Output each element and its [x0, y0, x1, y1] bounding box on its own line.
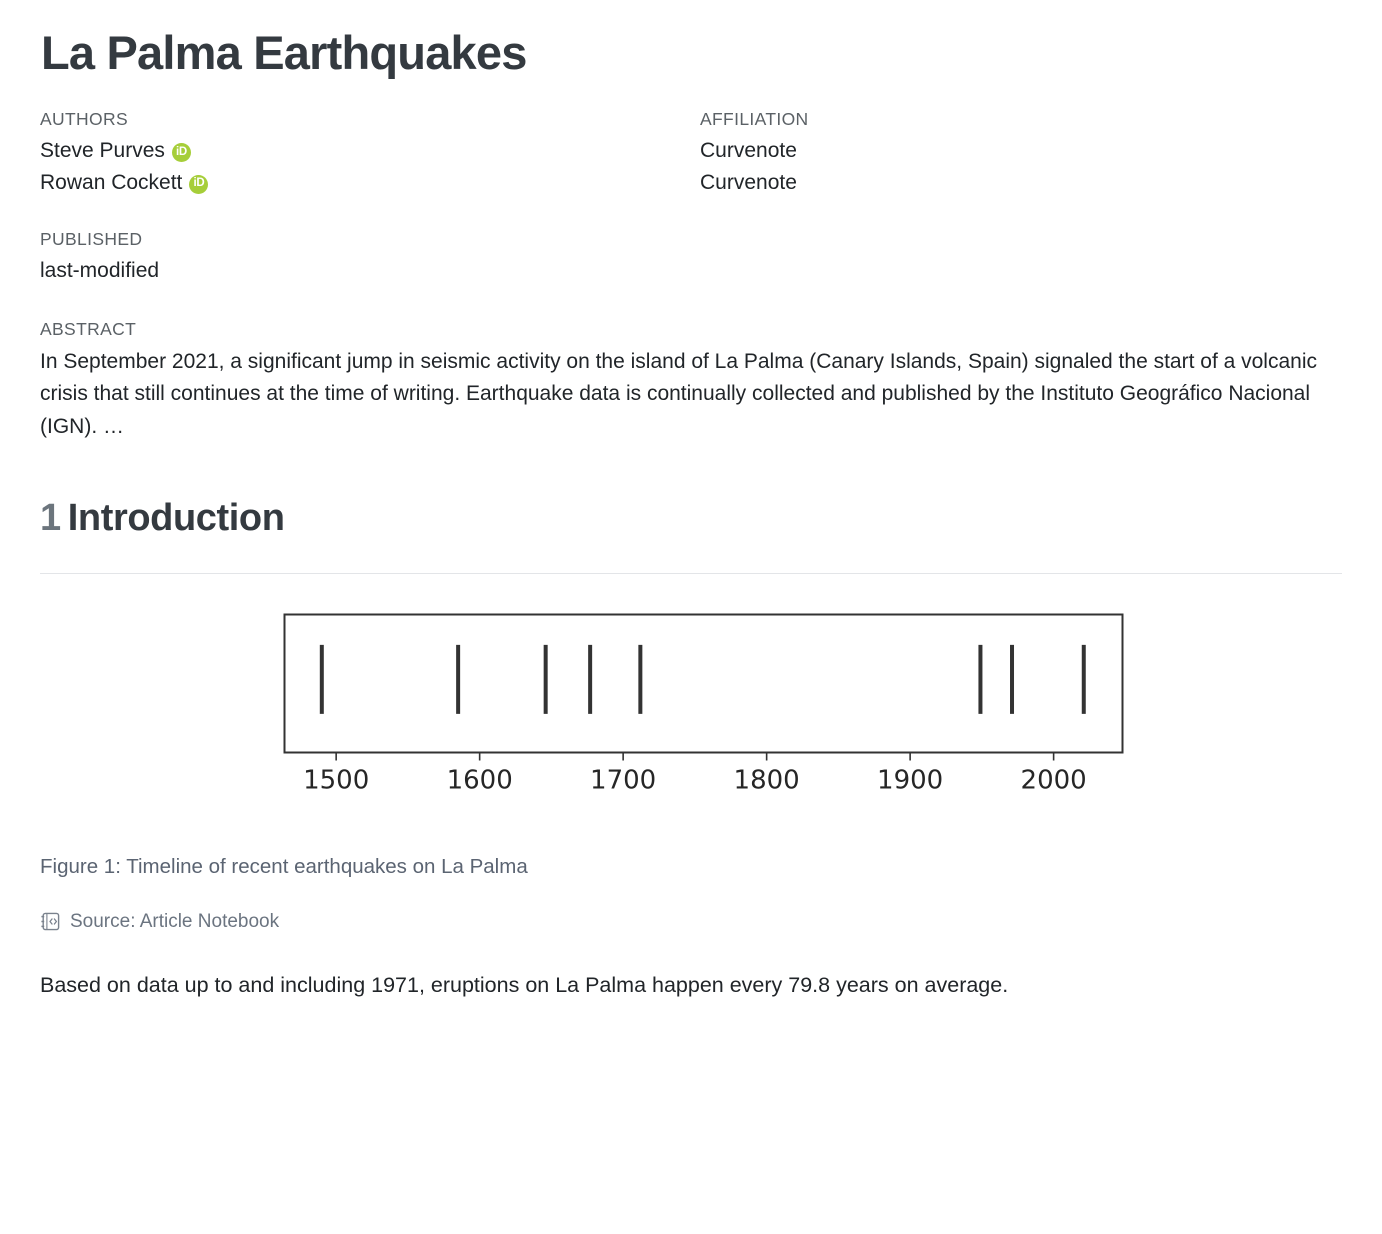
authors-label: AUTHORS — [40, 106, 700, 132]
timeline-plot: 150016001700180019002000 — [40, 604, 1342, 832]
author-entry: Rowan Cockett iD — [40, 167, 700, 199]
affiliation-value: Curvenote — [700, 167, 1342, 199]
published-value: last-modified — [40, 255, 1342, 287]
notebook-code-icon — [40, 911, 61, 932]
abstract-text: In September 2021, a significant jump in… — [40, 346, 1342, 444]
plot-frame — [285, 614, 1123, 752]
x-axis-tick-label: 1700 — [590, 765, 656, 795]
x-axis-tick-label: 1900 — [877, 765, 943, 795]
abstract-block: ABSTRACT In September 2021, a significan… — [40, 316, 1342, 444]
figure-caption: Figure 1: Timeline of recent earthquakes… — [40, 852, 1342, 882]
affiliation-label: AFFILIATION — [700, 106, 1342, 132]
section-number: 1 — [40, 497, 61, 539]
author-name: Rowan Cockett — [40, 167, 182, 199]
figure-timeline: 150016001700180019002000 Figure 1: Timel… — [40, 604, 1342, 882]
affiliation-column: AFFILIATION Curvenote Curvenote — [700, 106, 1342, 199]
x-axis-tick-label: 2000 — [1021, 765, 1087, 795]
timeline-chart-svg: 150016001700180019002000 — [40, 604, 1342, 832]
page-title: La Palma Earthquakes — [41, 26, 1342, 80]
authors-column: AUTHORS Steve Purves iD Rowan Cockett iD — [40, 106, 700, 199]
affiliation-value: Curvenote — [700, 135, 1342, 167]
article-metadata: AUTHORS Steve Purves iD Rowan Cockett iD… — [40, 106, 1342, 199]
section-title: Introduction — [68, 497, 285, 539]
orcid-icon[interactable]: iD — [172, 143, 191, 162]
abstract-label: ABSTRACT — [40, 316, 1342, 342]
body-paragraph: Based on data up to and including 1971, … — [40, 968, 1310, 1003]
x-axis-tick-label: 1600 — [447, 765, 513, 795]
published-label: PUBLISHED — [40, 226, 1342, 252]
x-axis-tick-label: 1500 — [303, 765, 369, 795]
author-entry: Steve Purves iD — [40, 135, 700, 167]
x-axis-tick-labels-group: 150016001700180019002000 — [303, 765, 1087, 795]
published-block: PUBLISHED last-modified — [40, 226, 1342, 287]
section-heading: 1Introduction — [40, 496, 1342, 542]
author-name: Steve Purves — [40, 135, 165, 167]
figure-source[interactable]: Source: Article Notebook — [40, 910, 1342, 935]
x-axis-ticks-group — [336, 752, 1053, 760]
x-axis-tick-label: 1800 — [734, 765, 800, 795]
heading-divider — [40, 573, 1342, 574]
orcid-icon[interactable]: iD — [189, 175, 208, 194]
event-marks-group — [322, 645, 1084, 714]
article-page: La Palma Earthquakes AUTHORS Steve Purve… — [0, 26, 1382, 1003]
figure-source-label: Source: Article Notebook — [70, 910, 279, 935]
